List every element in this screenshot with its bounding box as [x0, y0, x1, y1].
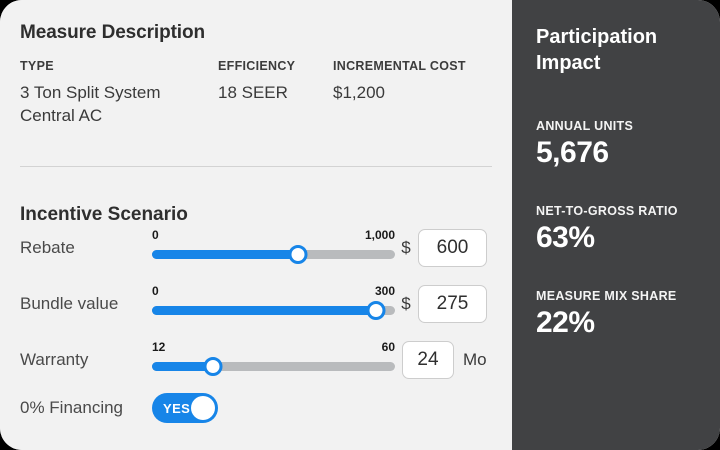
slider-track-bundle-value[interactable] [152, 306, 395, 315]
financing-label: 0% Financing [20, 398, 152, 418]
metric-label-annual-units: ANNUAL UNITS [536, 119, 720, 133]
slider-row-warranty: Warranty 12 60 24 Mo [20, 338, 492, 382]
metric-value-measure-mix-share: 22% [536, 306, 720, 340]
slider-label-bundle-value: Bundle value [20, 294, 152, 314]
slider-label-warranty: Warranty [20, 350, 152, 370]
left-panel: Measure Description TYPE 3 Ton Split Sys… [0, 0, 512, 450]
slider-thumb-bundle-value[interactable] [366, 301, 385, 320]
slider-max-warranty: 60 [382, 340, 395, 354]
slider-label-rebate: Rebate [20, 238, 152, 258]
metric-value-annual-units: 5,676 [536, 136, 720, 170]
slider-min-rebate: 0 [152, 228, 159, 242]
section-divider [20, 166, 492, 167]
incentive-scenario-title: Incentive Scenario [20, 204, 188, 226]
toggle-knob-icon [191, 396, 215, 420]
slider-bundle-value[interactable]: 0 300 [152, 284, 395, 324]
slider-thumb-rebate[interactable] [288, 245, 307, 264]
unit-suffix-warranty: Mo [463, 350, 487, 370]
slider-max-rebate: 1,000 [365, 228, 395, 242]
slider-range-bundle-value: 0 300 [152, 284, 395, 298]
slider-warranty[interactable]: 12 60 [152, 340, 395, 380]
column-value-incremental-cost: $1,200 [333, 82, 513, 105]
slider-rebate[interactable]: 0 1,000 [152, 228, 395, 268]
slider-row-bundle-value: Bundle value 0 300 $ 275 [20, 282, 492, 326]
metric-annual-units: ANNUAL UNITS 5,676 [536, 119, 720, 170]
column-label-type: TYPE [20, 59, 216, 73]
measure-description-table: TYPE 3 Ton Split System Central AC EFFIC… [20, 59, 492, 137]
participation-impact-title: Participation Impact [536, 24, 696, 77]
measure-column-incremental-cost: INCREMENTAL COST $1,200 [333, 59, 513, 105]
metric-label-measure-mix-share: MEASURE MIX SHARE [536, 289, 720, 303]
participation-impact-panel: Participation Impact ANNUAL UNITS 5,676 … [512, 0, 720, 450]
currency-prefix-rebate: $ [395, 238, 417, 258]
slider-max-bundle-value: 300 [375, 284, 395, 298]
column-value-type: 3 Ton Split System Central AC [20, 82, 216, 128]
slider-fill-bundle-value [152, 306, 376, 315]
column-label-incremental-cost: INCREMENTAL COST [333, 59, 513, 73]
rebate-input[interactable]: 600 [418, 229, 487, 267]
slider-track-warranty[interactable] [152, 362, 395, 371]
slider-row-rebate: Rebate 0 1,000 $ 600 [20, 226, 492, 270]
metric-net-to-gross-ratio: NET-TO-GROSS RATIO 63% [536, 204, 720, 255]
slider-range-warranty: 12 60 [152, 340, 395, 354]
measure-column-type: TYPE 3 Ton Split System Central AC [20, 59, 216, 128]
measure-column-efficiency: EFFICIENCY 18 SEER [218, 59, 328, 105]
metric-label-net-to-gross-ratio: NET-TO-GROSS RATIO [536, 204, 720, 218]
slider-track-rebate[interactable] [152, 250, 395, 259]
financing-row: 0% Financing YES [20, 392, 492, 424]
financing-toggle-state: YES [163, 401, 190, 416]
slider-min-bundle-value: 0 [152, 284, 159, 298]
slider-thumb-warranty[interactable] [203, 357, 222, 376]
bundle-value-input[interactable]: 275 [418, 285, 487, 323]
warranty-input[interactable]: 24 [402, 341, 454, 379]
column-label-efficiency: EFFICIENCY [218, 59, 328, 73]
metric-value-net-to-gross-ratio: 63% [536, 221, 720, 255]
metric-measure-mix-share: MEASURE MIX SHARE 22% [536, 289, 720, 340]
column-value-efficiency: 18 SEER [218, 82, 328, 105]
scenario-card: Measure Description TYPE 3 Ton Split Sys… [0, 0, 720, 450]
financing-toggle[interactable]: YES [152, 393, 218, 423]
slider-range-rebate: 0 1,000 [152, 228, 395, 242]
slider-fill-rebate [152, 250, 298, 259]
currency-prefix-bundle-value: $ [395, 294, 417, 314]
measure-description-title: Measure Description [20, 22, 492, 44]
slider-min-warranty: 12 [152, 340, 165, 354]
